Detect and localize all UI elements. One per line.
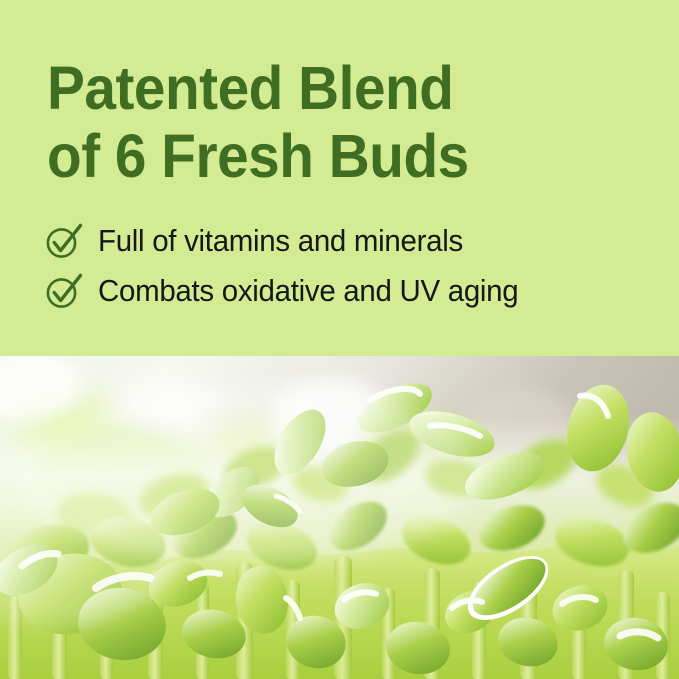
benefits-list: Full of vitamins and minerals Combats ox… [44, 216, 664, 316]
check-circle-icon [44, 272, 84, 310]
microgreens-photo [0, 356, 679, 679]
list-item: Full of vitamins and minerals [44, 216, 664, 266]
page-title: Patented Blend of 6 Fresh Buds [47, 54, 605, 190]
list-item-label: Full of vitamins and minerals [98, 224, 463, 258]
microgreens-photo-image [0, 356, 679, 679]
green-info-panel: Patented Blend of 6 Fresh Buds Full of v… [0, 0, 679, 356]
list-item: Combats oxidative and UV aging [44, 266, 664, 316]
check-circle-icon [44, 222, 84, 260]
list-item-label: Combats oxidative and UV aging [98, 274, 518, 308]
product-infographic-card: Patented Blend of 6 Fresh Buds Full of v… [0, 0, 679, 679]
